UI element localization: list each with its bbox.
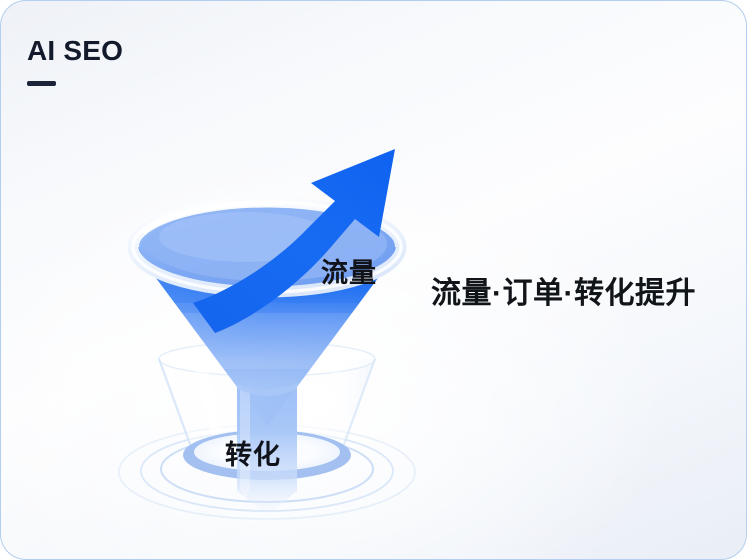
title-underline-rule — [27, 81, 56, 86]
funnel-label-traffic: 流量 — [321, 251, 377, 290]
funnel-label-conversion: 转化 — [225, 433, 281, 472]
seo-promo-card: AI SEO 流量·订单·转化提升 — [0, 0, 747, 560]
card-header: AI SEO — [27, 37, 327, 86]
tagline-text: 流量·订单·转化提升 — [431, 277, 696, 310]
page-title: AI SEO — [27, 37, 327, 65]
